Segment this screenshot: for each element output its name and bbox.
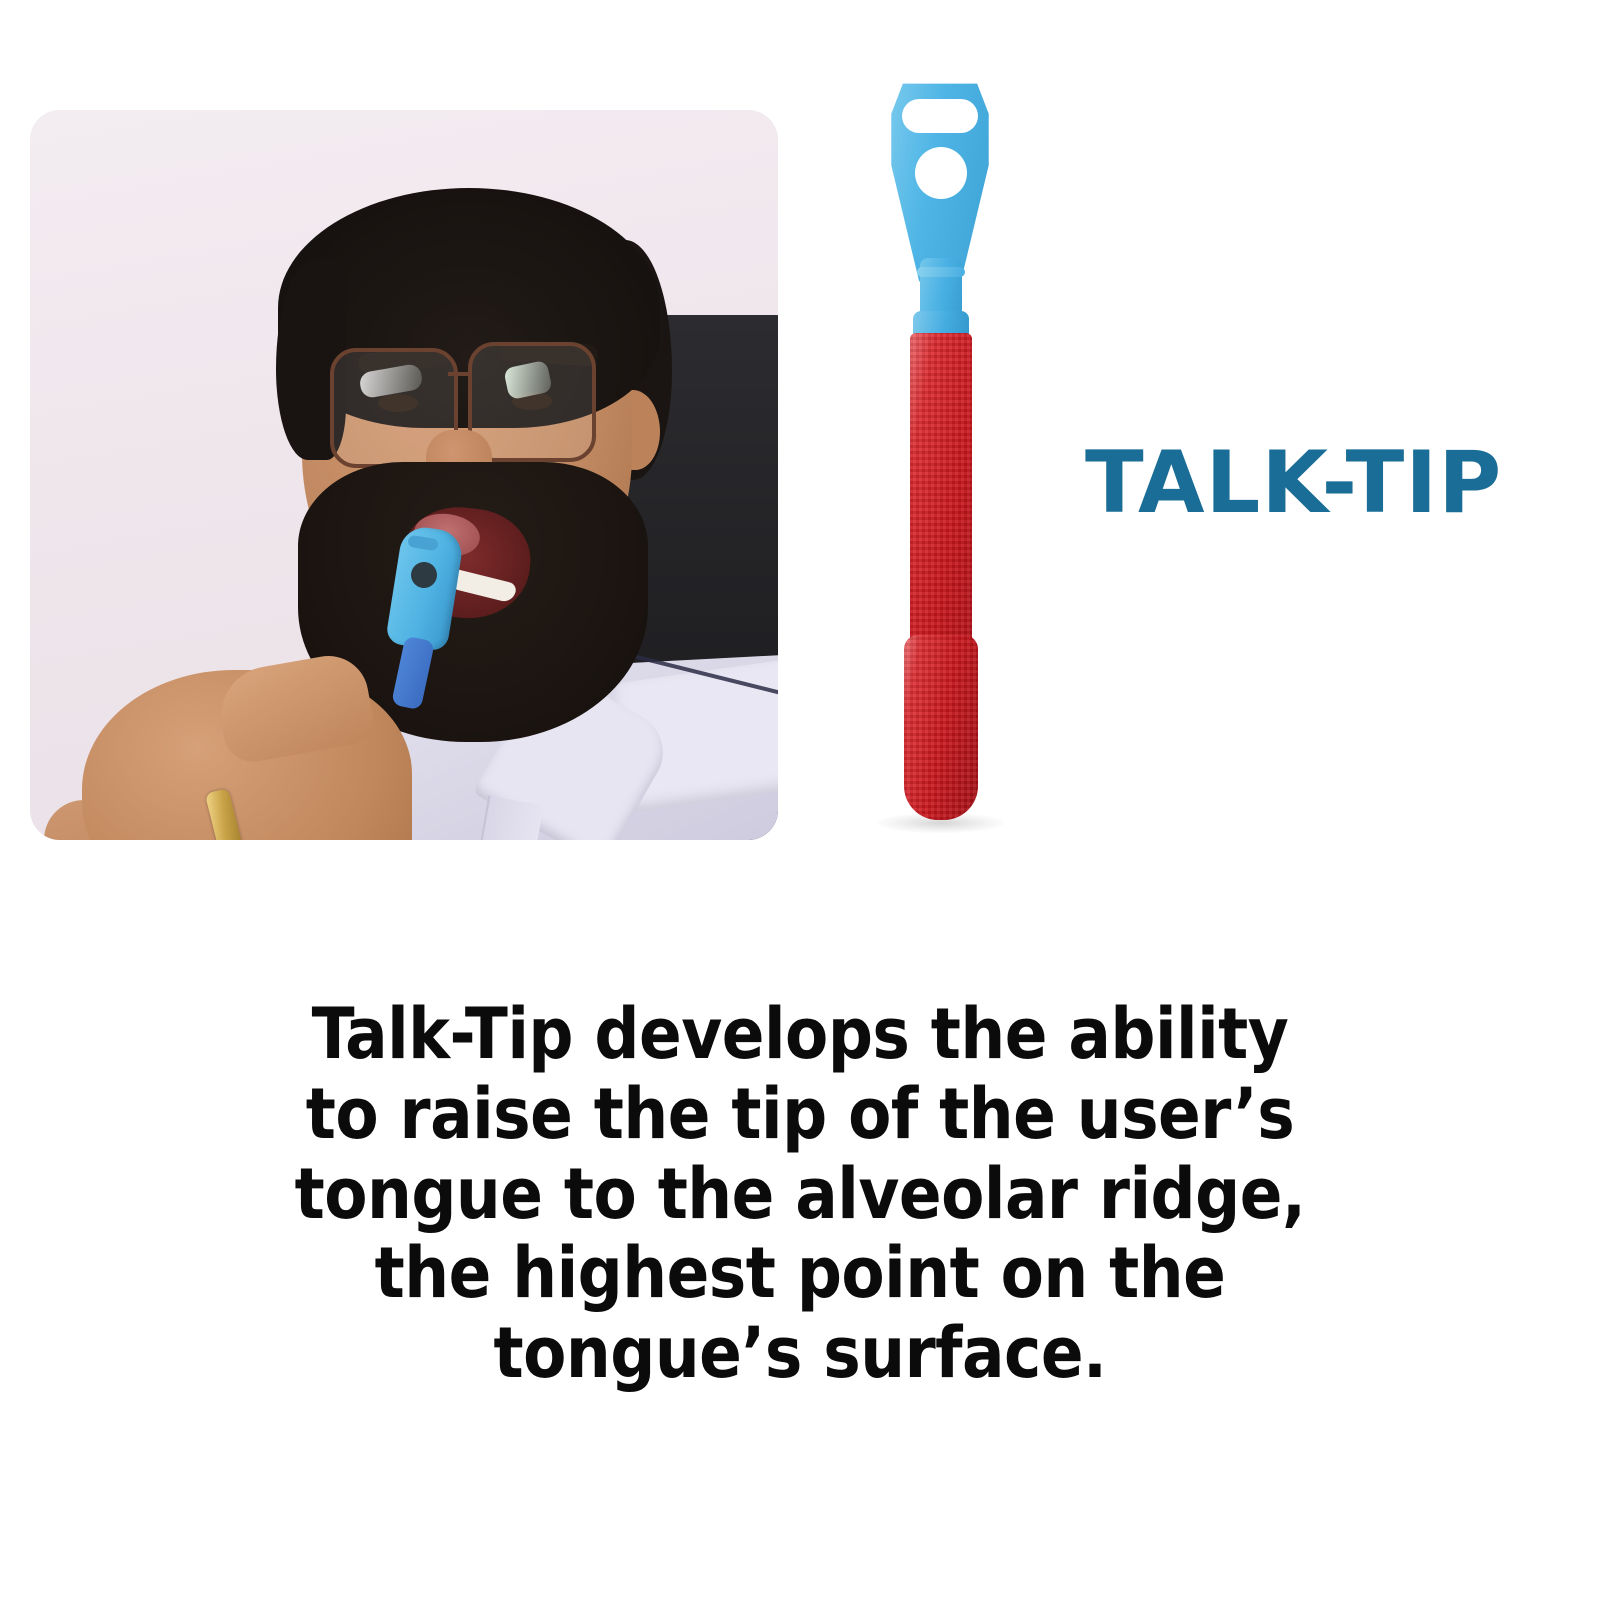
talk-tip-product-image <box>860 75 1020 835</box>
product-head-hole <box>915 147 967 199</box>
caption-text: Talk-Tip develops the ability to raise t… <box>180 995 1420 1394</box>
caption-line-2: to raise the tip of the user’s <box>180 1075 1420 1155</box>
caption-line-4: the highest point on the <box>180 1234 1420 1314</box>
product-neck-collar <box>917 267 965 277</box>
caption-line-5: tongue’s surface. <box>180 1314 1420 1394</box>
caption-line-1: Talk-Tip develops the ability <box>180 995 1420 1075</box>
product-grip <box>904 635 978 820</box>
eyeglasses-bridge <box>448 372 472 376</box>
brand-name: TALK-TIP <box>1085 440 1505 526</box>
product-head-slot <box>902 99 978 133</box>
caption-line-3: tongue to the alveolar ridge, <box>180 1155 1420 1235</box>
product-usage-photo <box>30 110 778 840</box>
